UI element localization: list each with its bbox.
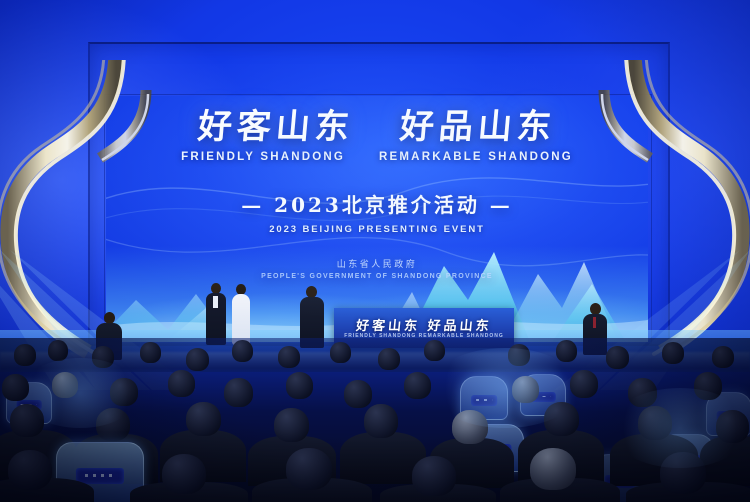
- audience-head-front: [162, 454, 206, 494]
- audience-head: [96, 408, 130, 441]
- audience-head: [52, 372, 78, 398]
- led-screen: [106, 96, 648, 342]
- audience-head-front: [660, 452, 706, 494]
- audience-head: [508, 344, 530, 366]
- audience-head: [286, 372, 313, 399]
- audience-head: [330, 342, 351, 363]
- stage-host-female: [230, 284, 252, 345]
- audience-head: [712, 346, 734, 368]
- audience-head: [278, 346, 300, 368]
- audience-head: [544, 402, 579, 436]
- audience-head: [344, 380, 372, 408]
- audience-head: [662, 342, 684, 364]
- audience-head: [14, 344, 36, 366]
- chair-placard: [76, 468, 124, 484]
- audience-head: [232, 340, 253, 362]
- audience-head: [186, 348, 209, 371]
- audience-head: [364, 404, 398, 438]
- audience-head-front: [286, 448, 332, 490]
- audience-head-front: [530, 448, 576, 490]
- audience-head-front: [412, 456, 456, 496]
- audience-head: [110, 378, 138, 406]
- audience-head: [10, 404, 44, 437]
- audience-head: [570, 370, 598, 398]
- audience-head: [404, 372, 431, 399]
- audience-head: [274, 408, 309, 442]
- audience-head: [606, 346, 629, 369]
- audience-head: [512, 376, 539, 403]
- audience-head: [168, 370, 195, 397]
- audience-head: [186, 402, 221, 436]
- audience-head-front: [8, 450, 52, 490]
- audience-head: [378, 348, 400, 370]
- audience-head: [92, 346, 114, 368]
- audience-head: [556, 340, 577, 362]
- audience-head: [48, 340, 68, 361]
- audience-head: [224, 378, 253, 407]
- audience-head: [628, 378, 657, 407]
- audience-head: [694, 372, 722, 400]
- audience-head: [638, 406, 672, 440]
- audience-shoulders: [700, 436, 750, 486]
- audience-head: [424, 340, 445, 361]
- stage-host-male: [205, 283, 227, 345]
- audience-head: [2, 374, 29, 401]
- event-photo: 好客山东 好品山东 FRIENDLY SHANDONG REMARKABLE S…: [0, 0, 750, 502]
- audience-head: [140, 342, 161, 363]
- audience-head: [716, 410, 749, 443]
- audience-area: [0, 338, 750, 502]
- podium-banner-cn: 好客山东 好品山东: [334, 315, 514, 334]
- audience-head: [452, 410, 488, 444]
